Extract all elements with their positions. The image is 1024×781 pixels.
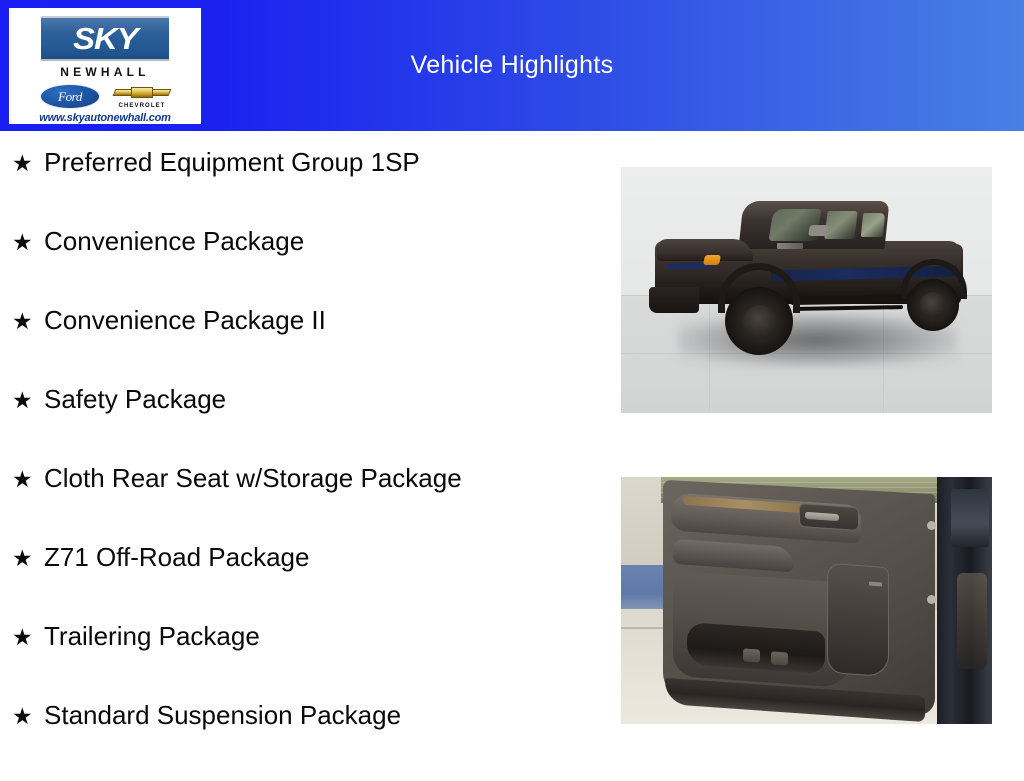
vehicle-highlights-list: ★ Preferred Equipment Group 1SP ★ Conven… [0, 131, 600, 781]
vehicle-interior-door-photo[interactable] [621, 477, 992, 724]
list-item-label: Safety Package [44, 386, 226, 412]
chevrolet-logo-text: CHEVROLET [119, 103, 166, 109]
star-bullet-icon: ★ [12, 548, 44, 571]
rear-wheel-rim [920, 292, 946, 318]
door-hinge-bolt [927, 521, 936, 530]
dealer-website-url: www.skyautonewhall.com [39, 112, 171, 124]
list-item: ★ Cloth Rear Seat w/Storage Package [0, 465, 600, 544]
star-bullet-icon: ★ [12, 232, 44, 255]
body-reflection [957, 573, 987, 669]
chevrolet-logo-icon: CHEVROLET [114, 83, 170, 109]
franchise-logos: Ford CHEVROLET [40, 83, 170, 109]
speaker-brand-badge-icon [869, 582, 882, 587]
star-bullet-icon: ★ [12, 627, 44, 650]
list-item: ★ Convenience Package [0, 228, 600, 307]
list-item-label: Preferred Equipment Group 1SP [44, 149, 420, 175]
list-item: ★ Trailering Package [0, 623, 600, 702]
list-item: ★ Standard Suspension Package [0, 702, 600, 781]
rear-window-glass [951, 489, 989, 547]
star-bullet-icon: ★ [12, 706, 44, 729]
sky-logo-banner: SKY [41, 16, 169, 61]
list-item: ★ Convenience Package II [0, 307, 600, 386]
list-item-label: Z71 Off-Road Package [44, 544, 309, 570]
sky-logo-text: SKY [73, 23, 137, 54]
dealer-logo[interactable]: SKY NEWHALL Ford CHEVROLET www.skyautone… [9, 8, 201, 124]
door-cupholder [771, 651, 788, 665]
chevrolet-bowtie-icon [114, 83, 170, 102]
list-item: ★ Safety Package [0, 386, 600, 465]
list-item-label: Trailering Package [44, 623, 260, 649]
door-hinge-bolt [927, 595, 936, 604]
list-item-label: Cloth Rear Seat w/Storage Package [44, 465, 462, 491]
page-header: Vehicle Highlights SKY NEWHALL Ford CHEV… [0, 0, 1024, 131]
vehicle-exterior-photo[interactable] [621, 167, 992, 413]
garage-floor-line [621, 627, 665, 629]
star-bullet-icon: ★ [12, 311, 44, 334]
list-item: ★ Preferred Equipment Group 1SP [0, 149, 600, 228]
list-item-label: Standard Suspension Package [44, 702, 401, 728]
front-wheel-rim [743, 305, 777, 339]
door-speaker-grille [827, 563, 889, 677]
star-bullet-icon: ★ [12, 153, 44, 176]
list-item-label: Convenience Package [44, 228, 304, 254]
list-item: ★ Z71 Off-Road Package [0, 544, 600, 623]
list-item-label: Convenience Package II [44, 307, 326, 333]
star-bullet-icon: ★ [12, 390, 44, 413]
ford-logo-icon: Ford [40, 84, 100, 109]
ford-logo-text: Ford [58, 90, 82, 103]
front-door-glass [824, 211, 857, 239]
door-cupholder [743, 648, 760, 662]
side-mirror [808, 225, 829, 236]
z71-badge-icon [777, 243, 803, 249]
headlight [703, 255, 721, 265]
dealer-location-text: NEWHALL [60, 65, 149, 79]
rear-door-glass [861, 213, 886, 237]
star-bullet-icon: ★ [12, 469, 44, 492]
front-bumper [649, 287, 699, 313]
running-board [797, 305, 903, 311]
